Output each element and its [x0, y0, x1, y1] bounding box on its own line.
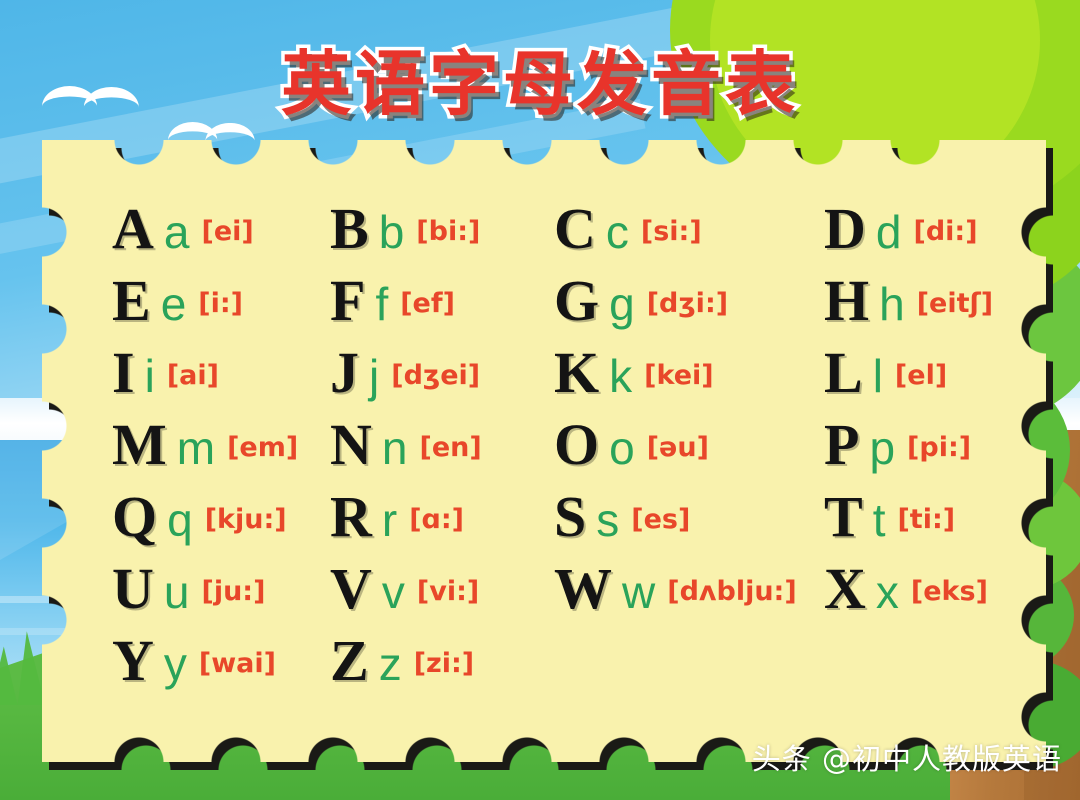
alphabet-table: Aa[ei]Bb[bi:]Cc[si:]Dd[di:]Ee[i:]Ff[ef]G… [42, 140, 1046, 762]
lowercase-letter: p [869, 422, 895, 474]
phonetic-transcription: [el] [895, 360, 947, 391]
letter-entry-o: Oo[əu] [554, 411, 709, 478]
phonetic-transcription: [ef] [400, 288, 455, 319]
lowercase-letter: m [177, 422, 215, 474]
uppercase-letter: U [112, 556, 154, 621]
uppercase-letter: P [824, 412, 859, 477]
uppercase-letter: X [824, 556, 866, 621]
phonetic-transcription: [pi:] [907, 432, 971, 463]
lowercase-letter: i [145, 350, 155, 402]
phonetic-transcription: [di:] [913, 216, 977, 247]
phonetic-transcription: [em] [227, 432, 298, 463]
lowercase-letter: r [382, 494, 397, 546]
lowercase-letter: l [873, 350, 883, 402]
letter-entry-v: Vv[vi:] [330, 555, 479, 622]
lowercase-letter: k [609, 350, 632, 402]
letter-entry-x: Xx[eks] [824, 555, 988, 622]
letter-entry-u: Uu[ju:] [112, 555, 265, 622]
uppercase-letter: D [824, 196, 866, 261]
phonetic-transcription: [dʒi:] [647, 288, 728, 319]
letter-entry-p: Pp[pi:] [824, 411, 971, 478]
page-title: 英语字母发音表 [0, 28, 1080, 129]
letter-entry-z: Zz[zi:] [330, 627, 474, 694]
uppercase-letter: E [112, 268, 151, 333]
letter-entry-q: Qq[kju:] [112, 483, 287, 550]
uppercase-letter: O [554, 412, 599, 477]
phonetic-transcription: [bi:] [416, 216, 480, 247]
phonetic-transcription: [dʒei] [391, 360, 480, 391]
phonetic-transcription: [ju:] [201, 576, 265, 607]
letter-entry-d: Dd[di:] [824, 195, 978, 262]
uppercase-letter: J [330, 340, 359, 405]
uppercase-letter: T [824, 484, 863, 549]
letter-entry-s: Ss[es] [554, 483, 690, 550]
phonetic-transcription: [i:] [198, 288, 243, 319]
lowercase-letter: y [164, 638, 187, 690]
uppercase-letter: G [554, 268, 599, 333]
uppercase-letter: M [112, 412, 167, 477]
uppercase-letter: C [554, 196, 596, 261]
lowercase-letter: d [876, 206, 902, 258]
lowercase-letter: b [379, 206, 405, 258]
phonetic-transcription: [zi:] [414, 648, 474, 679]
letter-entry-b: Bb[bi:] [330, 195, 480, 262]
letter-entry-m: Mm[em] [112, 411, 298, 478]
letter-entry-r: Rr[ɑ:] [330, 483, 464, 550]
letter-entry-t: Tt[ti:] [824, 483, 955, 550]
letter-entry-i: Ii[ai] [112, 339, 219, 406]
uppercase-letter: L [824, 340, 863, 405]
phonetic-transcription: [kei] [644, 360, 713, 391]
phonetic-transcription: [wai] [199, 648, 276, 679]
uppercase-letter: Y [112, 628, 154, 693]
lowercase-letter: q [167, 494, 193, 546]
phonetic-transcription: [ɑ:] [409, 504, 464, 535]
poster-scene: 英语字母发音表 Aa[ei]Bb[bi:]Cc[si:]Dd[di:]Ee[i:… [0, 0, 1080, 800]
phonetic-transcription: [ti:] [897, 504, 955, 535]
lowercase-letter: e [161, 278, 187, 330]
lowercase-letter: j [369, 350, 379, 402]
letter-entry-y: Yy[wai] [112, 627, 276, 694]
letter-entry-a: Aa[ei] [112, 195, 254, 262]
lowercase-letter: h [879, 278, 905, 330]
uppercase-letter: Q [112, 484, 157, 549]
letter-entry-c: Cc[si:] [554, 195, 702, 262]
letter-entry-f: Ff[ef] [330, 267, 455, 334]
letter-entry-w: Ww[dʌblju:] [554, 555, 797, 622]
uppercase-letter: B [330, 196, 369, 261]
uppercase-letter: A [112, 196, 154, 261]
letter-entry-l: Ll[el] [824, 339, 947, 406]
watermark: 头条 @初中人教版英语 [752, 736, 1062, 778]
letter-entry-h: Hh[eitʃ] [824, 267, 993, 334]
uppercase-letter: R [330, 484, 372, 549]
letter-entry-k: Kk[kei] [554, 339, 714, 406]
letter-entry-g: Gg[dʒi:] [554, 267, 728, 334]
lowercase-letter: x [876, 566, 899, 618]
lowercase-letter: c [606, 206, 629, 258]
phonetic-transcription: [dʌblju:] [667, 576, 796, 607]
lowercase-letter: g [609, 278, 635, 330]
uppercase-letter: Z [330, 628, 369, 693]
uppercase-letter: W [554, 556, 612, 621]
phonetic-transcription: [ei] [201, 216, 253, 247]
uppercase-letter: I [112, 340, 135, 405]
uppercase-letter: H [824, 268, 869, 333]
lowercase-letter: s [596, 494, 619, 546]
phonetic-transcription: [ai] [167, 360, 219, 391]
lowercase-letter: u [164, 566, 190, 618]
letter-entry-e: Ee[i:] [112, 267, 243, 334]
uppercase-letter: S [554, 484, 586, 549]
lowercase-letter: n [382, 422, 408, 474]
phonetic-transcription: [eks] [911, 576, 988, 607]
phonetic-transcription: [eitʃ] [917, 288, 993, 319]
phonetic-transcription: [es] [631, 504, 690, 535]
phonetic-transcription: [en] [419, 432, 481, 463]
phonetic-transcription: [əu] [647, 432, 709, 463]
lowercase-letter: w [622, 566, 655, 618]
phonetic-transcription: [vi:] [417, 576, 479, 607]
letter-entry-n: Nn[en] [330, 411, 482, 478]
lowercase-letter: f [375, 278, 388, 330]
phonetic-transcription: [kju:] [205, 504, 287, 535]
lowercase-letter: o [609, 422, 635, 474]
uppercase-letter: K [554, 340, 599, 405]
phonetic-transcription: [si:] [641, 216, 702, 247]
letter-entry-j: Jj[dʒei] [330, 339, 480, 406]
lowercase-letter: t [873, 494, 886, 546]
uppercase-letter: F [330, 268, 365, 333]
uppercase-letter: V [330, 556, 372, 621]
lowercase-letter: a [164, 206, 190, 258]
uppercase-letter: N [330, 412, 372, 477]
lowercase-letter: v [382, 566, 405, 618]
lowercase-letter: z [379, 638, 402, 690]
